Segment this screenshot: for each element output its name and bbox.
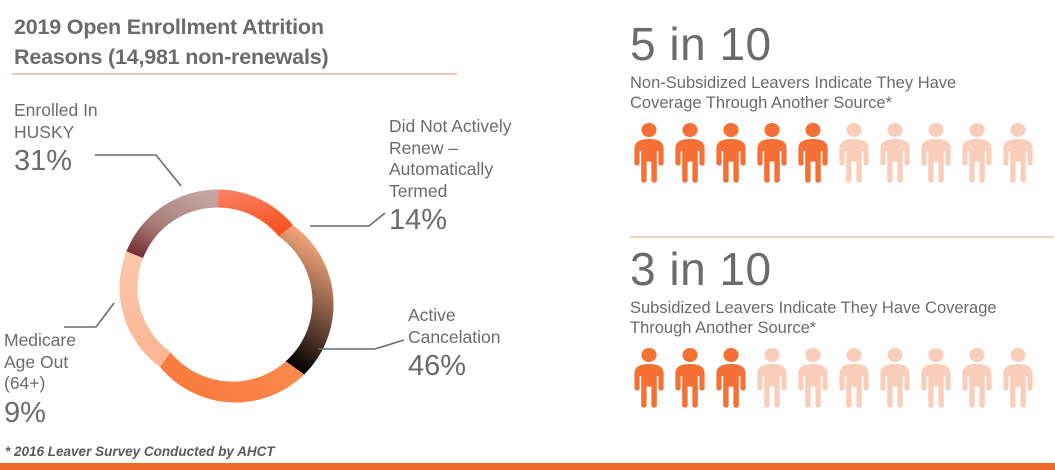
person-icon — [753, 347, 791, 409]
stat-description-subsidized: Subsidized Leavers Indicate They Have Co… — [630, 298, 1020, 338]
stat-headline-non-subsidized: 5 in 10 — [630, 18, 1055, 70]
label-dnar-percent: 14% — [389, 203, 564, 237]
person-icon — [753, 122, 791, 184]
label-active-line1: Active — [408, 305, 456, 325]
label-medicare-line2: Age Out — [4, 352, 68, 372]
pictogram-row-subsidized — [630, 347, 1055, 409]
pictogram-row-non-subsidized — [630, 122, 1055, 184]
infographic-page: 2019 Open Enrollment Attrition Reasons (… — [0, 0, 1055, 470]
label-did-not-actively-renew: Did Not Actively Renew – Automatically T… — [389, 116, 564, 237]
label-dnar-line4: Termed — [389, 181, 447, 201]
person-icon — [958, 347, 996, 409]
stat-description-non-subsidized: Non-Subsidized Leavers Indicate They Hav… — [630, 73, 1020, 113]
person-icon — [835, 347, 873, 409]
label-husky-percent: 31% — [14, 144, 174, 178]
label-medicare-age-out: Medicare Age Out (64+) 9% — [4, 330, 144, 430]
person-icon — [794, 347, 832, 409]
person-icon — [999, 347, 1037, 409]
person-icon — [712, 122, 750, 184]
leader-line-did-not-renew — [310, 213, 385, 226]
label-dnar-line1: Did Not Actively — [389, 116, 512, 136]
person-icon — [917, 122, 955, 184]
label-dnar-line2: Renew – — [389, 138, 458, 158]
label-medicare-percent: 9% — [4, 396, 144, 430]
person-icon — [630, 122, 668, 184]
label-active-line2: Cancelation — [408, 327, 500, 347]
label-husky-line1: Enrolled In — [14, 100, 98, 120]
person-icon — [876, 122, 914, 184]
person-icon — [671, 122, 709, 184]
attrition-chart-panel: 2019 Open Enrollment Attrition Reasons (… — [0, 0, 615, 470]
label-husky-line2: HUSKY — [14, 122, 74, 142]
leaver-survey-panel: 5 in 10 Non-Subsidized Leavers Indicate … — [630, 0, 1055, 470]
label-medicare-line3: (64+) — [4, 373, 45, 393]
label-dnar-line3: Automatically — [389, 159, 493, 179]
stat-block-non-subsidized: 5 in 10 Non-Subsidized Leavers Indicate … — [630, 18, 1055, 184]
person-icon — [671, 347, 709, 409]
footnote: * 2016 Leaver Survey Conducted by AHCT — [5, 444, 275, 459]
person-icon — [835, 122, 873, 184]
bottom-accent-bar — [0, 463, 1055, 470]
person-icon — [958, 122, 996, 184]
person-icon — [794, 122, 832, 184]
label-active-percent: 46% — [408, 349, 568, 383]
person-icon — [712, 347, 750, 409]
stat-headline-subsidized: 3 in 10 — [630, 243, 1055, 295]
stat-block-subsidized: 3 in 10 Subsidized Leavers Indicate They… — [630, 243, 1055, 409]
person-icon — [999, 122, 1037, 184]
person-icon — [630, 347, 668, 409]
leader-line-medicare — [64, 303, 114, 327]
label-enrolled-in-husky: Enrolled In HUSKY 31% — [14, 100, 174, 178]
person-icon — [917, 347, 955, 409]
label-active-cancelation: Active Cancelation 46% — [408, 305, 568, 383]
person-icon — [876, 347, 914, 409]
label-medicare-line1: Medicare — [4, 330, 76, 350]
leader-line-active-cancelation — [318, 340, 404, 349]
panel-divider — [630, 236, 1054, 238]
